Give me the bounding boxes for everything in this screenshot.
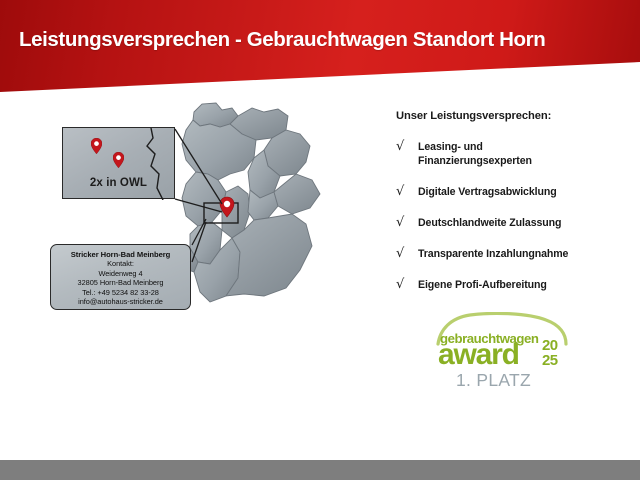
list-item: √ Leasing- und Finanzierungsexperten [396,140,631,168]
promise-label: Deutschlandweite Zulassung [418,216,561,230]
list-item: √ Deutschlandweite Zulassung [396,216,631,230]
promise-label: Leasing- und Finanzierungsexperten [418,140,532,168]
promise-label: Transparente Inzahlungnahme [418,247,568,261]
contact-email[interactable]: info@autohaus-stricker.de [51,297,190,306]
award-title: award [438,340,519,370]
contact-kontakt-label: Kontakt: [51,259,190,268]
header-banner: Leistungsversprechen - Gebrauchtwagen St… [0,0,640,92]
slide-root: Leistungsversprechen - Gebrauchtwagen St… [0,0,640,480]
check-mark-icon: √ [396,140,418,153]
contact-city: 32805 Horn-Bad Meinberg [51,278,190,287]
contact-phone[interactable]: Tel.: +49 5234 82 33-28 [51,288,190,297]
promise-label: Eigene Profi-Aufbereitung [418,278,547,292]
award-badge: gebrauchtwagen award 20 25 1. PLATZ [424,312,580,390]
page-title: Leistungsversprechen - Gebrauchtwagen St… [19,28,545,52]
promises-list: Unser Leistungsversprechen: √ Leasing- u… [396,110,631,309]
brand-logo-bar: Horn Nutzfahrzeuge Service SKODA Service [0,404,640,460]
promise-label: Digitale Vertragsabwicklung [418,185,557,199]
check-mark-icon: √ [396,278,418,291]
award-year: 20 25 [542,339,558,368]
inset-region-outline [63,128,176,200]
inset-label: 2x in OWL [63,177,174,189]
check-mark-icon: √ [396,185,418,198]
list-item: √ Digitale Vertragsabwicklung [396,185,631,199]
contact-card: Stricker Horn-Bad Meinberg Kontakt: Weid… [50,244,191,310]
contact-name: Stricker Horn-Bad Meinberg [51,250,190,259]
check-mark-icon: √ [396,216,418,229]
list-item: √ Transparente Inzahlungnahme [396,247,631,261]
award-rank: 1. PLATZ [456,370,531,391]
check-mark-icon: √ [396,247,418,260]
map-inset-owl: 2x in OWL [62,127,175,199]
germany-map [160,100,375,400]
bottom-bar [0,460,640,480]
promises-title: Unser Leistungsversprechen: [396,110,631,122]
list-item: √ Eigene Profi-Aufbereitung [396,278,631,292]
contact-street: Weidenweg 4 [51,269,190,278]
